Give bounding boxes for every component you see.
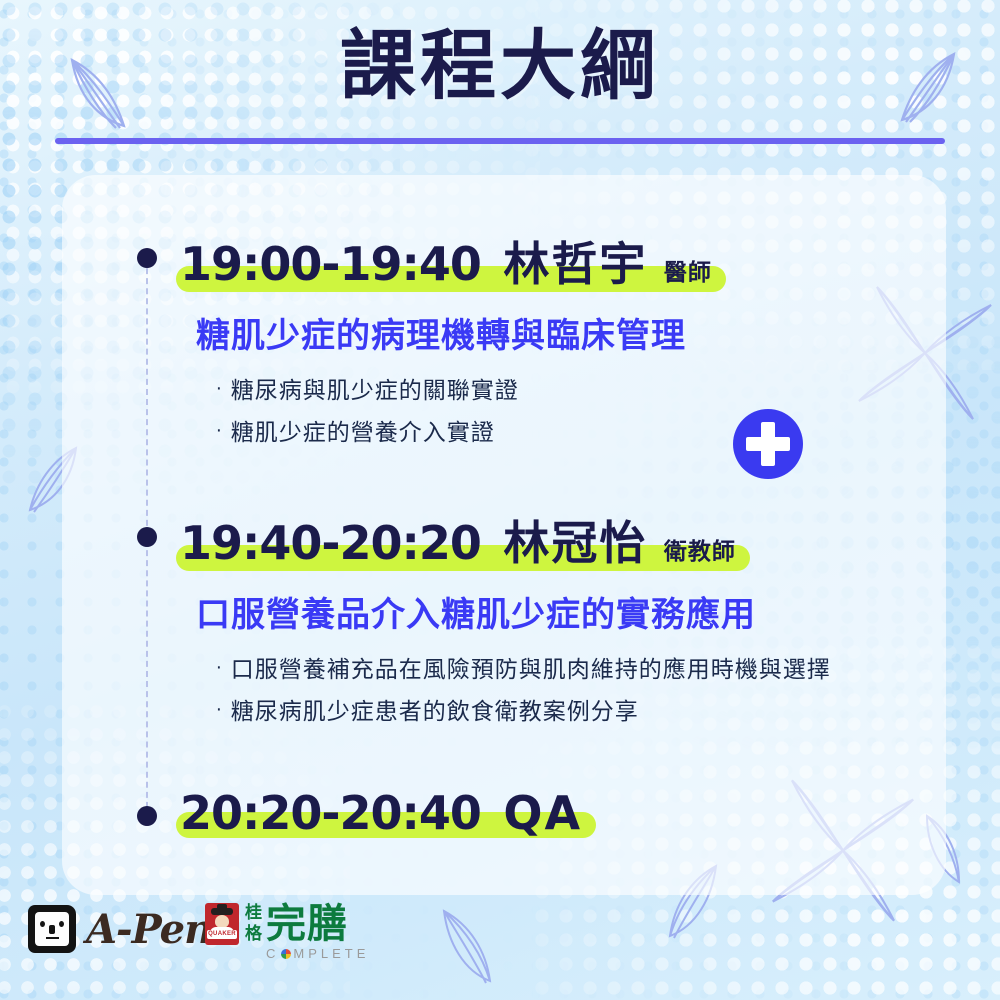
quaker-brand-char-2: 格: [245, 924, 262, 945]
quaker-product-zh: 完膳: [266, 903, 369, 945]
session-1-point-1: ‧糖尿病與肌少症的關聯實證: [216, 371, 726, 413]
apen-bear-icon: [28, 905, 76, 953]
medical-cross-icon: [733, 409, 803, 479]
session-3-header: 20:20-20:40 QA: [176, 786, 596, 840]
poster-canvas: 課程大綱 19:00-19:40 林哲宇 醫師 糖肌少症的病理機轉與臨床管理 ‧…: [0, 0, 1000, 1000]
bullet-icon: ‧: [216, 379, 223, 400]
quaker-product: 完膳 CMPLETE: [266, 903, 369, 961]
session-2-point-2: ‧糖尿病肌少症患者的飲食衛教案例分享: [216, 692, 831, 734]
session-1-points: ‧糖尿病與肌少症的關聯實證 ‧糖肌少症的營養介入實證: [216, 371, 726, 455]
bullet-icon: ‧: [216, 700, 223, 721]
session-1-time: 19:00-19:40: [180, 237, 481, 291]
session-1-role: 醫師: [664, 260, 712, 286]
quaker-brand-char-1: 桂: [245, 903, 262, 924]
session-2-point-2-text: 糖尿病肌少症患者的飲食衛教案例分享: [231, 699, 639, 725]
agenda-session-1[interactable]: 19:00-19:40 林哲宇 醫師 糖肌少症的病理機轉與臨床管理 ‧糖尿病與肌…: [180, 228, 726, 455]
agenda-session-2[interactable]: 19:40-20:20 林冠怡 衛教師 口服營養品介入糖肌少症的實務應用 ‧口服…: [180, 507, 831, 734]
apen-logo: A-Pen: [28, 905, 212, 953]
agenda-session-list: 19:00-19:40 林哲宇 醫師 糖肌少症的病理機轉與臨床管理 ‧糖尿病與肌…: [0, 0, 1000, 1000]
quaker-product-en: CMPLETE: [266, 946, 369, 961]
session-1-speaker: 林哲宇: [503, 237, 647, 291]
session-2-points: ‧口服營養補充品在風險預防與肌肉維持的應用時機與選擇 ‧糖尿病肌少症患者的飲食衛…: [216, 650, 831, 734]
apen-bear-nose: [49, 925, 55, 934]
apen-wordmark: A-Pen: [86, 906, 212, 953]
session-2-point-1-text: 口服營養補充品在風險預防與肌肉維持的應用時機與選擇: [231, 657, 831, 683]
session-2-point-1: ‧口服營養補充品在風險預防與肌肉維持的應用時機與選擇: [216, 650, 831, 692]
session-3-speaker: QA: [503, 786, 582, 840]
quaker-rainbow-o-icon: [281, 949, 291, 959]
session-2-role: 衛教師: [664, 539, 736, 565]
quaker-man-icon: QUAKER: [205, 903, 239, 945]
session-2-time: 19:40-20:20: [180, 516, 481, 570]
session-3-time: 20:20-20:40: [180, 786, 481, 840]
session-1-point-1-text: 糖尿病與肌少症的關聯實證: [231, 378, 519, 404]
session-1-point-2: ‧糖肌少症的營養介入實證: [216, 413, 726, 455]
bullet-icon: ‧: [216, 421, 223, 442]
apen-bear-face: [35, 912, 69, 946]
quaker-brand-zh: 桂 格: [245, 903, 262, 945]
quaker-product-en-before: C: [266, 946, 279, 961]
apen-bear-mouth: [46, 937, 59, 939]
session-1-point-2-text: 糖肌少症的營養介入實證: [231, 420, 495, 446]
bullet-icon: ‧: [216, 658, 223, 679]
session-2-header: 19:40-20:20 林冠怡 衛教師: [176, 507, 750, 573]
apen-bear-eye-left: [40, 921, 45, 927]
footer-logos: A-Pen QUAKER 桂 格 完膳 CMPLETE: [0, 895, 1000, 1000]
session-1-header: 19:00-19:40 林哲宇 醫師: [176, 228, 726, 294]
session-1-topic: 糖肌少症的病理機轉與臨床管理: [196, 308, 726, 357]
agenda-session-3[interactable]: 20:20-20:40 QA: [180, 786, 596, 840]
session-2-speaker: 林冠怡: [503, 516, 647, 570]
apen-bear-eye-right: [59, 921, 64, 927]
quaker-complete-logo: QUAKER 桂 格 完膳 CMPLETE: [205, 903, 369, 961]
quaker-badge-text: QUAKER: [207, 930, 237, 939]
session-2-topic: 口服營養品介入糖肌少症的實務應用: [196, 587, 831, 636]
quaker-hat: [211, 908, 233, 915]
quaker-product-en-after: MPLETE: [293, 946, 369, 961]
